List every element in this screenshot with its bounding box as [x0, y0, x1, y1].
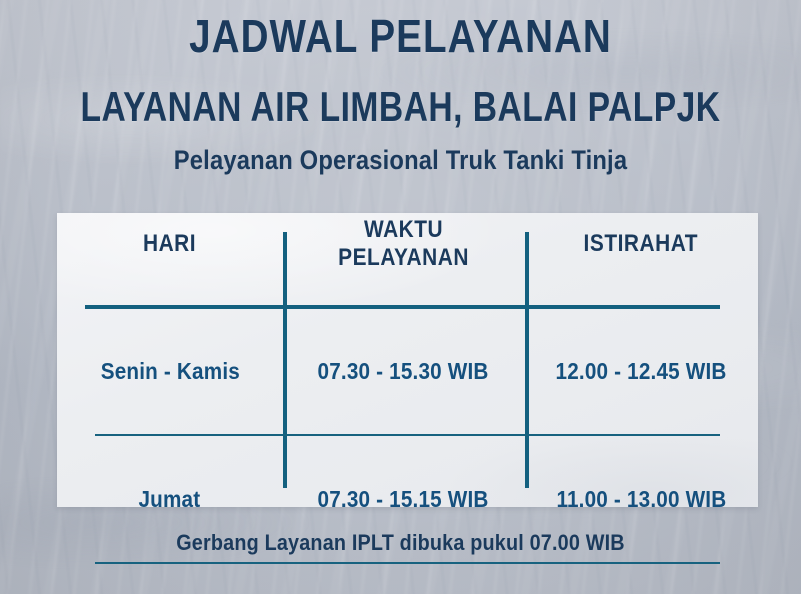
schedule-panel: HARI WAKTU PELAYANAN ISTIRAHAT	[57, 213, 758, 507]
column-header-waktu: WAKTU PELAYANAN	[283, 213, 524, 275]
row-separator-segment	[283, 562, 524, 564]
header-rule-cell-3	[524, 275, 758, 339]
row-separator-cell-3	[524, 403, 758, 467]
cell-hari-value: Jumat	[139, 486, 201, 513]
page-subtitle: LAYANAN AIR LIMBAH, BALAI PALPJK	[80, 84, 721, 130]
row-separator-segment	[95, 434, 283, 436]
footer-note: Gerbang Layanan IPLT dibuka pukul 07.00 …	[40, 530, 761, 556]
column-header-waktu-label: WAKTU PELAYANAN	[298, 216, 508, 272]
page-title: JADWAL PELAYANAN	[64, 12, 737, 62]
column-header-hari: HARI	[57, 213, 283, 275]
row-separator-segment	[95, 562, 283, 564]
table-head: HARI WAKTU PELAYANAN ISTIRAHAT	[57, 213, 758, 275]
column-header-istirahat-label: ISTIRAHAT	[584, 230, 699, 258]
cell-hari: Jumat	[57, 467, 283, 531]
header-rule-segment	[524, 305, 720, 309]
header-rule-cell-2	[283, 275, 524, 339]
cell-waktu-value: 07.30 - 15.30 WIB	[318, 358, 489, 385]
cell-istirahat: 11.00 - 13.00 WIB	[524, 467, 758, 531]
poster-canvas: JADWAL PELAYANAN LAYANAN AIR LIMBAH, BAL…	[0, 0, 801, 594]
table-row: Senin - Kamis 07.30 - 15.30 WIB 12.00 - …	[57, 339, 758, 403]
column-header-hari-label: HARI	[143, 230, 196, 258]
row-separator-segment	[283, 434, 524, 436]
row-separator-segment	[524, 562, 720, 564]
row-separator	[57, 403, 758, 467]
header-block: JADWAL PELAYANAN LAYANAN AIR LIMBAH, BAL…	[0, 12, 801, 176]
cell-waktu: 07.30 - 15.30 WIB	[283, 339, 524, 403]
cell-waktu-value: 07.30 - 15.15 WIB	[318, 486, 489, 513]
header-rule-cell-1	[57, 275, 283, 339]
table-row: Jumat 07.30 - 15.15 WIB 11.00 - 13.00 WI…	[57, 467, 758, 531]
cell-hari: Senin - Kamis	[57, 339, 283, 403]
row-separator-cell-1	[57, 403, 283, 467]
header-rule-segment	[85, 305, 283, 309]
row-separator-cell-2	[283, 403, 524, 467]
cell-hari-value: Senin - Kamis	[100, 358, 239, 385]
column-header-istirahat: ISTIRAHAT	[524, 213, 758, 275]
cell-istirahat-value: 11.00 - 13.00 WIB	[556, 486, 726, 513]
page-description: Pelayanan Operasional Truk Tanki Tinja	[48, 146, 753, 176]
cell-istirahat: 12.00 - 12.45 WIB	[524, 339, 758, 403]
row-separator-segment	[524, 434, 720, 436]
header-rule-row	[57, 275, 758, 339]
header-rule-segment	[283, 305, 524, 309]
cell-istirahat-value: 12.00 - 12.45 WIB	[555, 358, 726, 385]
cell-waktu: 07.30 - 15.15 WIB	[283, 467, 524, 531]
table-header-row: HARI WAKTU PELAYANAN ISTIRAHAT	[57, 213, 758, 275]
